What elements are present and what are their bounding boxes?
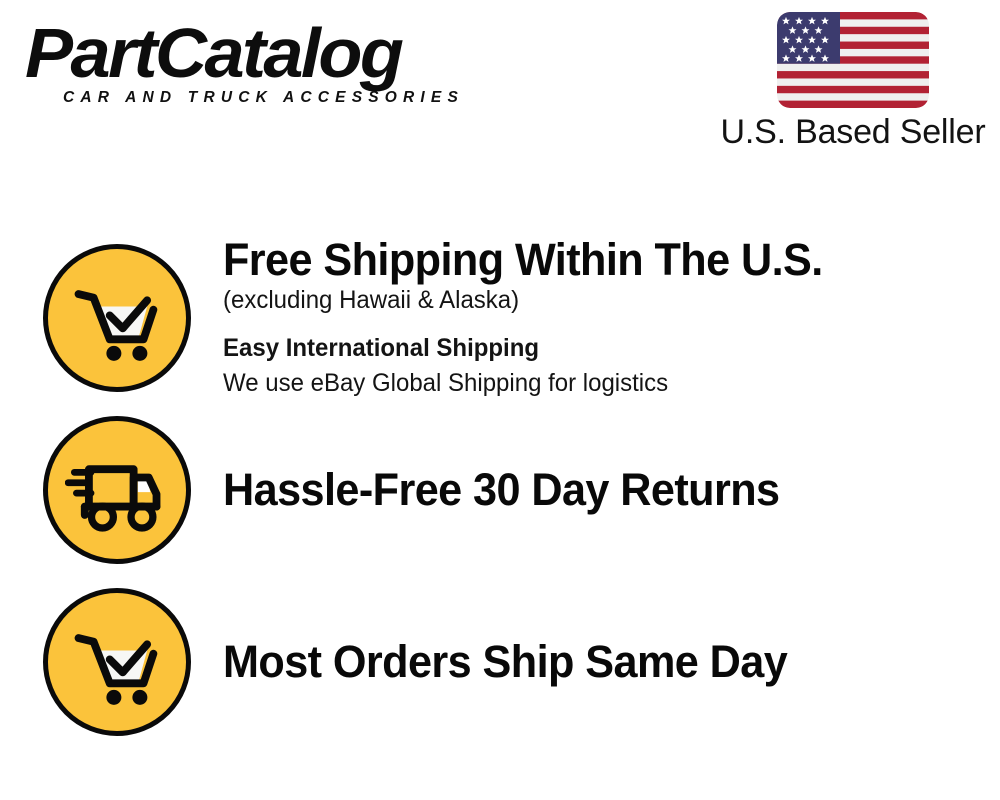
us-flag-icon [777, 12, 929, 108]
us-based-seller-badge: U.S. Based Seller [718, 12, 988, 151]
feature-note: (excluding Hawaii & Alaska) [223, 284, 969, 318]
feature-text-block: Hassle-Free 30 Day Returns [223, 466, 1000, 514]
logo-wordmark: PartCatalog [25, 20, 509, 87]
feature-list: Free Shipping Within The U.S. (excluding… [0, 232, 1000, 748]
feature-row: Free Shipping Within The U.S. (excluding… [0, 232, 1000, 404]
shopping-cart-check-icon [43, 244, 191, 392]
feature-subnote: We use eBay Global Shipping for logistic… [223, 367, 969, 401]
seller-badge-label: U.S. Based Seller [721, 114, 986, 151]
feature-headline: Most Orders Ship Same Day [223, 638, 787, 686]
feature-headline: Free Shipping Within The U.S. [223, 236, 969, 284]
feature-row: Most Orders Ship Same Day [0, 576, 1000, 748]
seller-banner: PartCatalog CAR AND TRUCK ACCESSORIES [0, 0, 1000, 800]
delivery-truck-icon [43, 416, 191, 564]
feature-text-block: Free Shipping Within The U.S. (excluding… [223, 236, 1000, 401]
feature-subhead: Easy International Shipping [223, 332, 969, 366]
feature-headline: Hassle-Free 30 Day Returns [223, 466, 780, 514]
feature-text-block: Most Orders Ship Same Day [223, 638, 1000, 686]
shopping-cart-check-icon [43, 588, 191, 736]
brand-logo: PartCatalog CAR AND TRUCK ACCESSORIES [25, 20, 495, 107]
feature-row: Hassle-Free 30 Day Returns [0, 404, 1000, 576]
